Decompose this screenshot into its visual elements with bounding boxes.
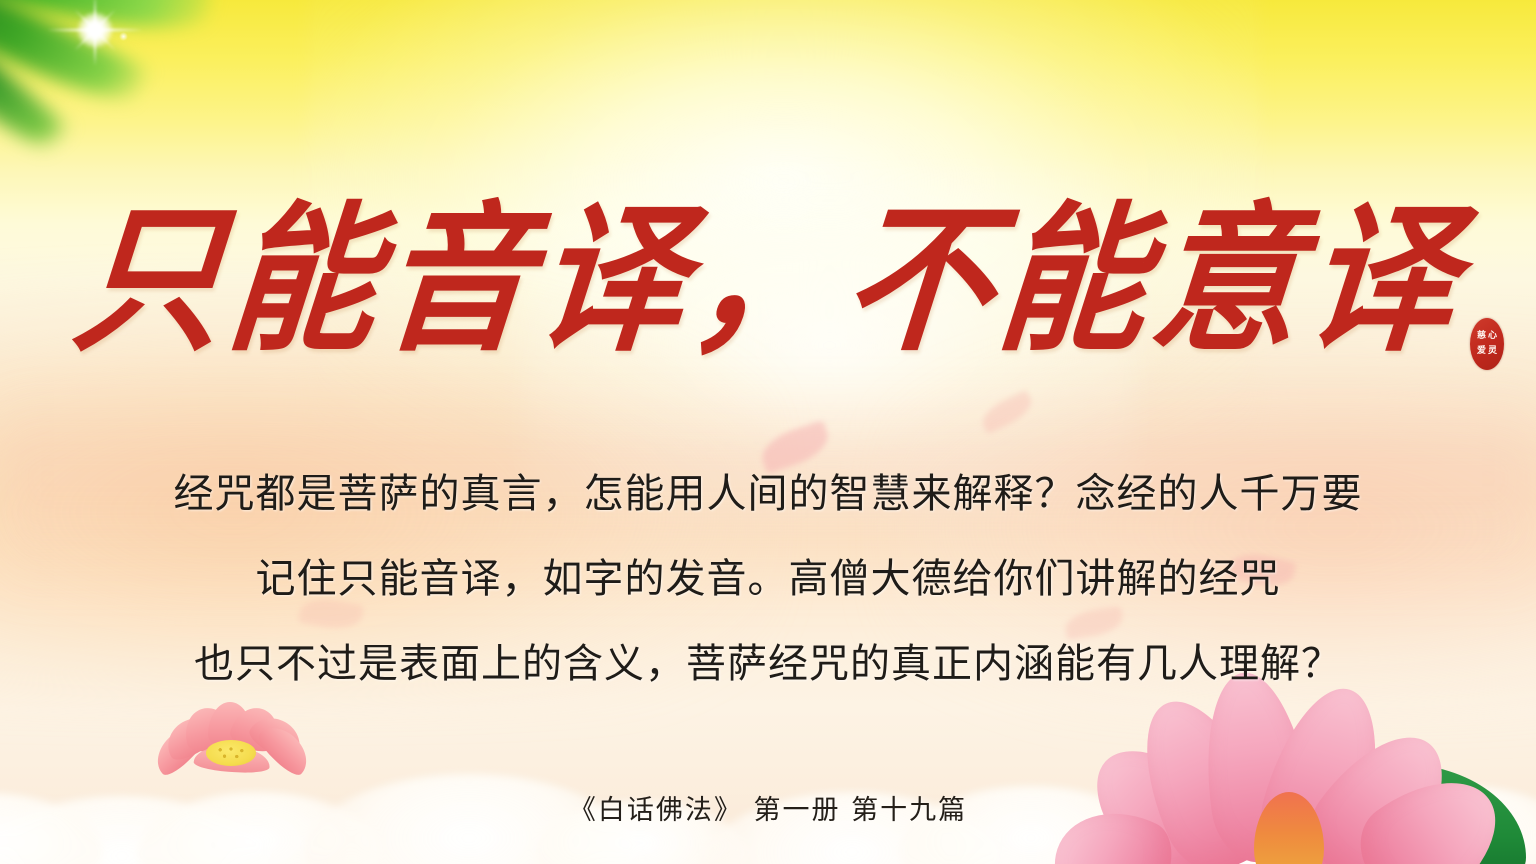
- lens-flare-icon: [47, 0, 143, 78]
- body-text-block: 经咒都是菩萨的真言，怎能用人间的智慧来解释？念经的人千万要 记住只能音译，如字的…: [0, 452, 1536, 707]
- seal-char-1: 慈: [1476, 329, 1487, 344]
- poster-canvas: 只能音译，不能意译 慈 心 爱 灵 经咒都是菩萨的真言，怎能用人间的智慧来解释？…: [0, 0, 1536, 864]
- seal-char-2: 心: [1487, 329, 1498, 344]
- artist-seal-stamp: 慈 心 爱 灵: [1470, 318, 1504, 370]
- body-line: 经咒都是菩萨的真言，怎能用人间的智慧来解释？念经的人千万要: [0, 452, 1536, 537]
- body-line: 也只不过是表面上的含义，菩萨经咒的真正内涵能有几人理解？: [0, 622, 1536, 707]
- seal-char-3: 爱: [1476, 344, 1487, 359]
- seal-char-4: 灵: [1487, 344, 1498, 359]
- source-citation: 《白话佛法》 第一册 第十九篇: [0, 788, 1536, 827]
- lotus-small-decoration-icon: [150, 700, 310, 780]
- body-line: 记住只能音译，如字的发音。高僧大德给你们讲解的经咒: [0, 537, 1536, 622]
- seal-character-grid: 慈 心 爱 灵: [1476, 329, 1498, 359]
